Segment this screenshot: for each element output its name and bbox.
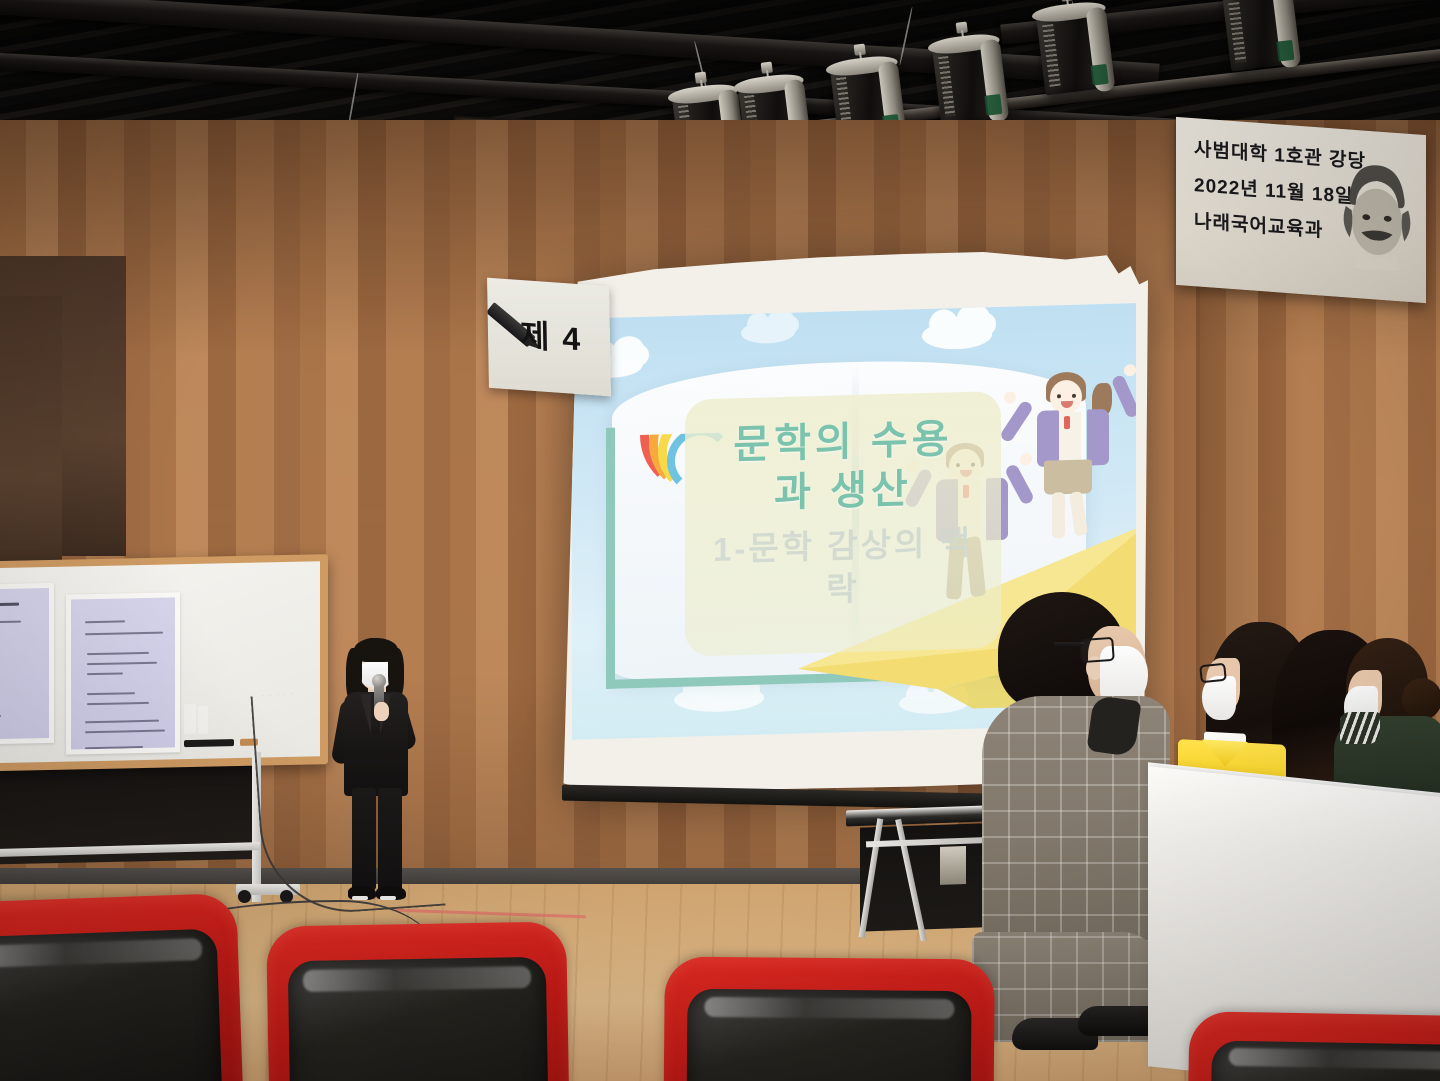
poem-sheet-left [0,588,49,740]
presenter-speaker [330,636,422,912]
presenter-leg-left [352,788,376,890]
stage-light-r6 [1222,0,1297,71]
slide-subtitle-line1: 1-문학 감상의 맥 [713,522,973,572]
man-shoe-2 [1078,1006,1156,1036]
poem-poster-right [66,592,180,754]
woman1-glasses [1199,663,1227,684]
presenter-hand [374,702,389,721]
auditorium-scene: 문학의 수용 과 생산 1-문학 감상의 맥 락 사범대학 1호관 강당 202… [0,0,1440,1081]
cloud-icon-4 [673,685,763,714]
auditorium-seat-3[interactable] [663,957,995,1081]
presenter-shoe-right [376,886,406,900]
whiteboard-marker[interactable] [184,739,234,747]
slide-subtitle: 1-문학 감상의 맥 락 [713,522,973,615]
auditorium-seat-2[interactable] [266,921,570,1081]
woman-bun-knot [1402,678,1440,720]
event-banner: 사범대학 1호관 강당 2022년 11월 18일 나래국어교육과 [1176,117,1426,303]
presenter-shoe-left [348,886,376,900]
numbered-banner-text: 제 4 [520,310,583,360]
slide-title: 문학의 수용 과 생산 [733,415,952,519]
slide-title-card: 문학의 수용 과 생산 1-문학 감상의 맥 락 [685,392,1001,658]
cloud-icon-3 [741,321,795,345]
presenter-lapel-left [360,694,371,734]
slide-subtitle-line2: 락 [713,565,973,615]
stage-light-r4 [932,42,1005,125]
slide-title-line2: 과 생산 [733,464,952,519]
woman-bun-collar [1340,712,1380,744]
poem-poster-left [0,583,54,746]
cloud-icon-2 [922,320,992,350]
caster-wheel-1 [238,890,251,903]
slide-title-line1: 문학의 수용 [733,415,952,470]
eraser-cup [184,704,196,734]
man-checked-jacket [982,696,1170,968]
auditorium-seat-4[interactable] [1186,1011,1440,1081]
numbered-banner: 제 4 [487,278,611,397]
scholar-portrait-icon [1338,155,1416,273]
wall-dark-upper-left [0,296,62,596]
man-glasses-arm [1054,642,1084,646]
eraser-cup-2 [198,706,208,734]
stage-light-r5 [1036,10,1111,95]
man-glasses [1079,637,1115,663]
presenter-leg-right [378,788,402,892]
student-figure-girl [1023,371,1119,542]
auditorium-seat-1[interactable] [0,893,244,1081]
poem-sheet-right [71,597,175,749]
